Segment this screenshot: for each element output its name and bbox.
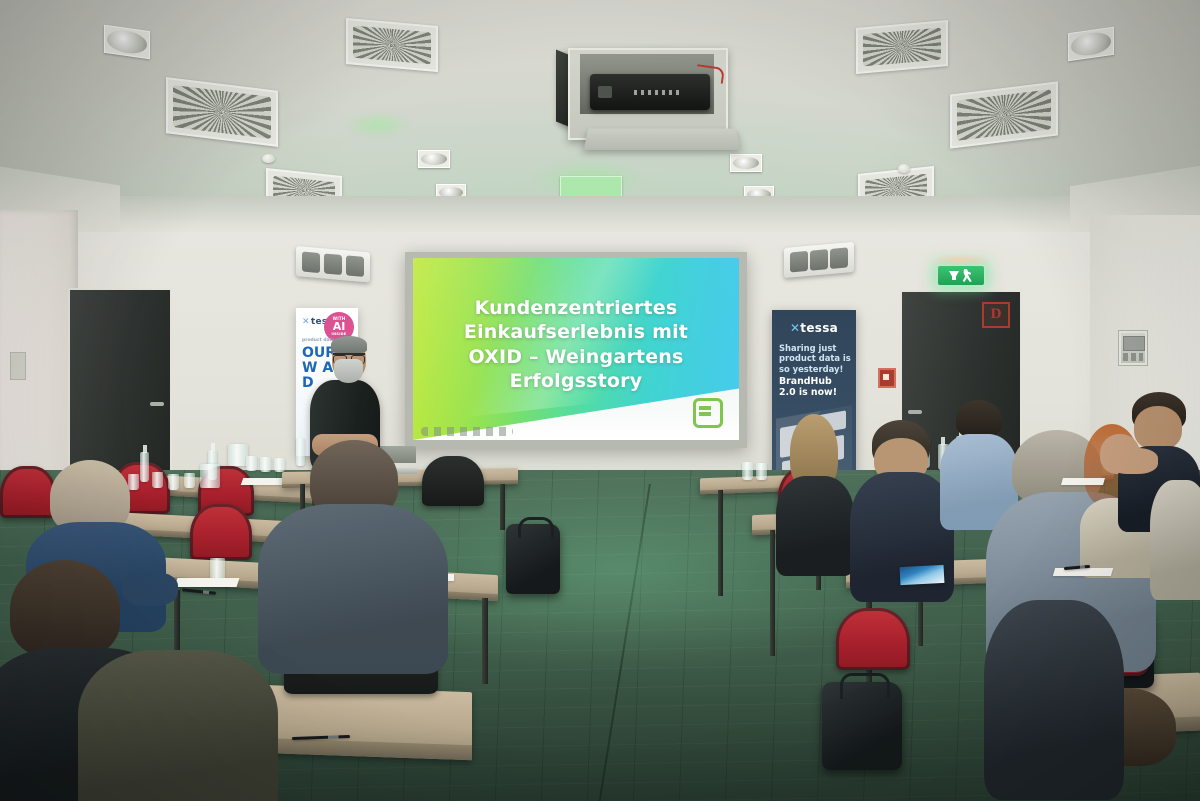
backpack-center-front: [822, 682, 902, 770]
paper-fl: [175, 578, 240, 587]
backpack-left: [506, 524, 560, 594]
wall-plate-left: [10, 352, 26, 380]
slide-control-bar[interactable]: [421, 427, 513, 436]
audience-right-6: [984, 600, 1124, 800]
emergency-exit-sign: [938, 266, 984, 285]
wall-speaker-left: [296, 246, 370, 282]
air-diffuser-2: [346, 18, 438, 72]
chair-ml-1: [190, 504, 252, 560]
audience-left-3: [108, 640, 248, 800]
audience-center-1: [258, 440, 448, 670]
brochure-right-table[interactable]: [900, 565, 945, 585]
fire-alarm-call-point[interactable]: [878, 368, 896, 388]
ceiling-green-reflection-2: [346, 112, 410, 138]
chair-c-5: [836, 608, 910, 670]
ceiling-projector: [590, 74, 710, 110]
air-diffuser-3: [856, 20, 948, 74]
glass-cb-1: [742, 462, 753, 480]
projector-hatch: [568, 48, 728, 140]
cooler-bl: [200, 464, 220, 488]
slide-title-line-3: OXID – Weingartens: [427, 345, 725, 369]
ai-badge-main: AI: [324, 321, 354, 332]
paper-right-2: [1053, 568, 1113, 576]
cooler-bl-2: [228, 444, 248, 466]
smoke-detector-1: [262, 154, 275, 163]
ceiling-spotlight-5: [730, 154, 762, 172]
banner-right-line-1: Sharing just product data is so yesterda…: [779, 343, 851, 374]
conference-room-photo: D Kundenzentriertes Einkaufserlebnis mit…: [0, 0, 1200, 801]
slide-title-line-4: Erfolgsstory: [427, 369, 725, 393]
banner-right-line-2: BrandHub 2.0 is now!: [779, 376, 851, 399]
glass-bl-5: [246, 456, 257, 471]
glass-cb-2: [756, 463, 767, 480]
audience-right-4: [1150, 480, 1200, 600]
running-man-icon: [962, 269, 974, 282]
tessa-mark-icon: ✕: [302, 317, 310, 327]
ceiling-spotlight-7: [560, 176, 622, 198]
slide-title: Kundenzentriertes Einkaufserlebnis mit O…: [413, 296, 739, 393]
slide-title-line-2: Einkaufserlebnis mit: [427, 320, 725, 344]
projection-screen: Kundenzentriertes Einkaufserlebnis mit O…: [413, 258, 739, 440]
exit-arrow-icon: [949, 271, 959, 280]
smoke-detector-2: [898, 164, 910, 173]
tessa-logo-right: ✕tessa: [772, 321, 856, 335]
oxid-logo: [693, 398, 723, 428]
projector-hatch-flap: [584, 129, 741, 150]
door-left[interactable]: [68, 288, 172, 476]
ceiling-spotlight-3: [418, 150, 450, 168]
wall-speaker-right: [784, 242, 854, 278]
paper-right: [1061, 478, 1105, 485]
fire-door-sign: D: [982, 302, 1010, 328]
room-control-panel[interactable]: [1118, 330, 1148, 366]
projection-screen-frame: Kundenzentriertes Einkaufserlebnis mit O…: [405, 252, 747, 448]
tessa-mark-icon-right: ✕: [790, 321, 800, 335]
audience-center-2: [776, 414, 854, 564]
glass-bl-4: [184, 473, 195, 488]
glass-bl-3: [168, 474, 179, 490]
slide-title-line-1: Kundenzentriertes: [427, 296, 725, 320]
